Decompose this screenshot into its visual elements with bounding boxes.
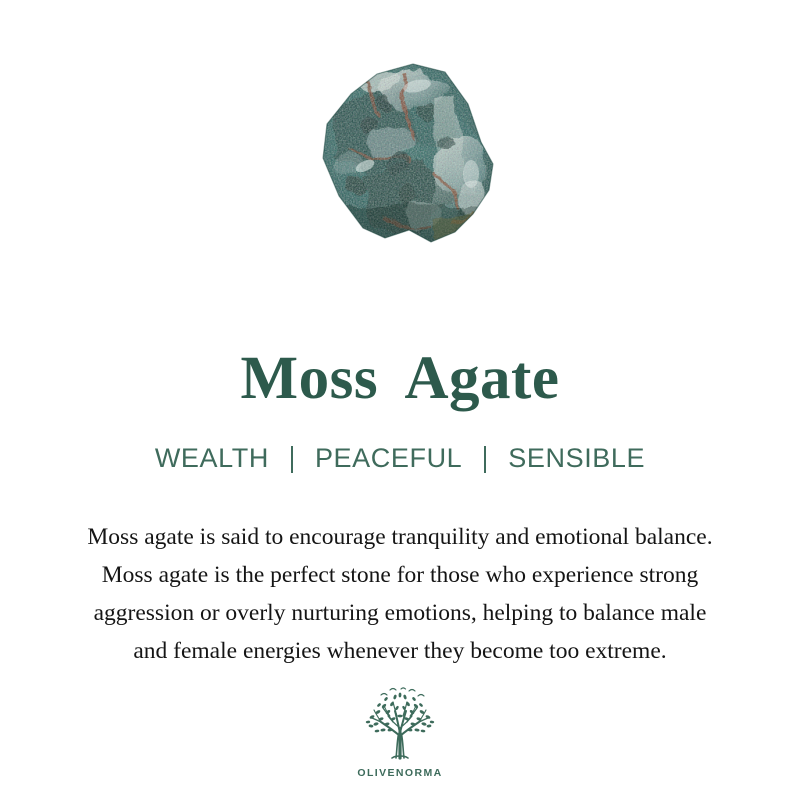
description-line-2: Moss agate is the perfect stone for thos… bbox=[35, 556, 765, 594]
keyword-separator-1 bbox=[291, 446, 293, 473]
keyword-sensible: SENSIBLE bbox=[508, 443, 645, 474]
description-line-3: aggression or overly nurturing emotions,… bbox=[35, 594, 765, 632]
product-description: Moss agate is said to encourage tranquil… bbox=[35, 474, 765, 670]
olive-tree-icon bbox=[357, 686, 443, 764]
moss-agate-stone-icon bbox=[305, 46, 505, 261]
description-line-1: Moss agate is said to encourage tranquil… bbox=[35, 518, 765, 556]
keyword-wealth: WEALTH bbox=[155, 443, 269, 474]
brand-logo: OLIVENORMA bbox=[335, 686, 465, 779]
page-title: Moss Agate bbox=[241, 300, 560, 409]
product-info-card: Moss Agate WEALTH PEACEFUL SENSIBLE Moss… bbox=[0, 0, 800, 800]
keyword-separator-2 bbox=[484, 446, 486, 473]
keyword-peaceful: PEACEFUL bbox=[315, 443, 462, 474]
brand-name: OLIVENORMA bbox=[357, 767, 442, 779]
stone-image-container bbox=[0, 0, 800, 300]
description-line-4: and female energies whenever they become… bbox=[35, 632, 765, 670]
keyword-list: WEALTH PEACEFUL SENSIBLE bbox=[155, 409, 645, 474]
